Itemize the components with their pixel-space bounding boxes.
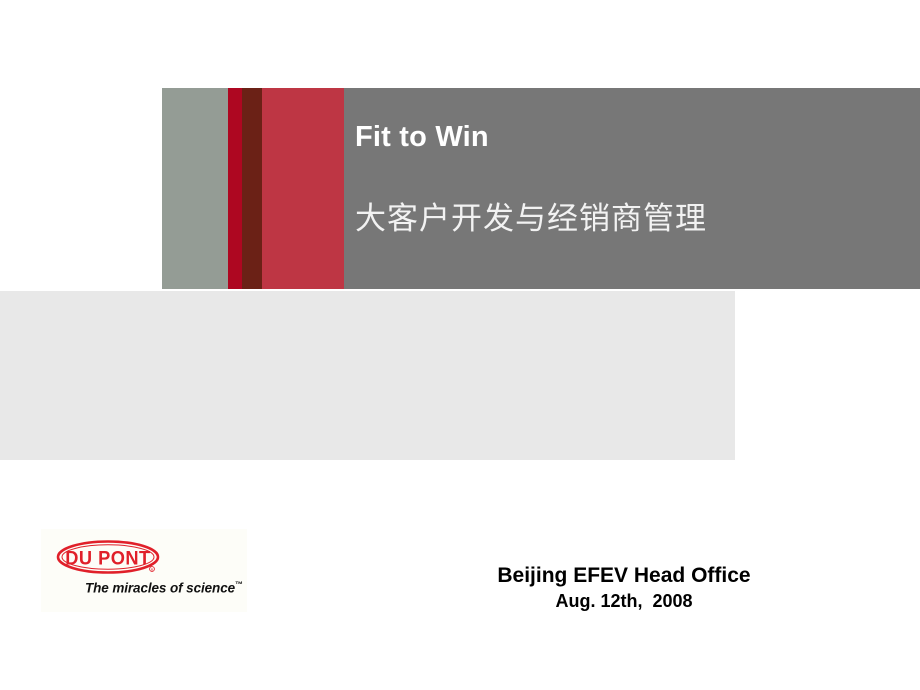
content-panel: [0, 291, 735, 460]
footer-date: Aug. 12th, 2008: [364, 589, 884, 614]
dupont-oval-icon: DU PONT R: [55, 537, 161, 577]
slide-title: Fit to Win: [355, 121, 489, 154]
dupont-tagline: The miracles of science™: [85, 580, 243, 596]
dupont-logo: DU PONT R The miracles of science™: [41, 529, 247, 612]
accent-stripe-red: [262, 88, 344, 289]
trademark-symbol: ™: [235, 580, 243, 589]
svg-text:R: R: [151, 568, 154, 572]
accent-stripe-maroon: [242, 88, 262, 289]
slide-subtitle: 大客户开发与经销商管理: [355, 193, 707, 238]
presentation-slide: Fit to Win 大客户开发与经销商管理 DU PONT R The mir…: [0, 0, 920, 690]
svg-text:DU PONT: DU PONT: [65, 547, 151, 568]
title-text-block: Fit to Win 大客户开发与经销商管理: [355, 88, 920, 289]
tagline-text: The miracles of science: [85, 581, 235, 596]
footer-organization: Beijing EFEV Head Office: [364, 563, 884, 589]
accent-stripe-sage: [162, 88, 228, 289]
slide-footer: Beijing EFEV Head Office Aug. 12th, 2008: [364, 563, 884, 614]
title-banner: Fit to Win 大客户开发与经销商管理: [162, 88, 920, 289]
accent-stripe-crimson: [228, 88, 242, 289]
